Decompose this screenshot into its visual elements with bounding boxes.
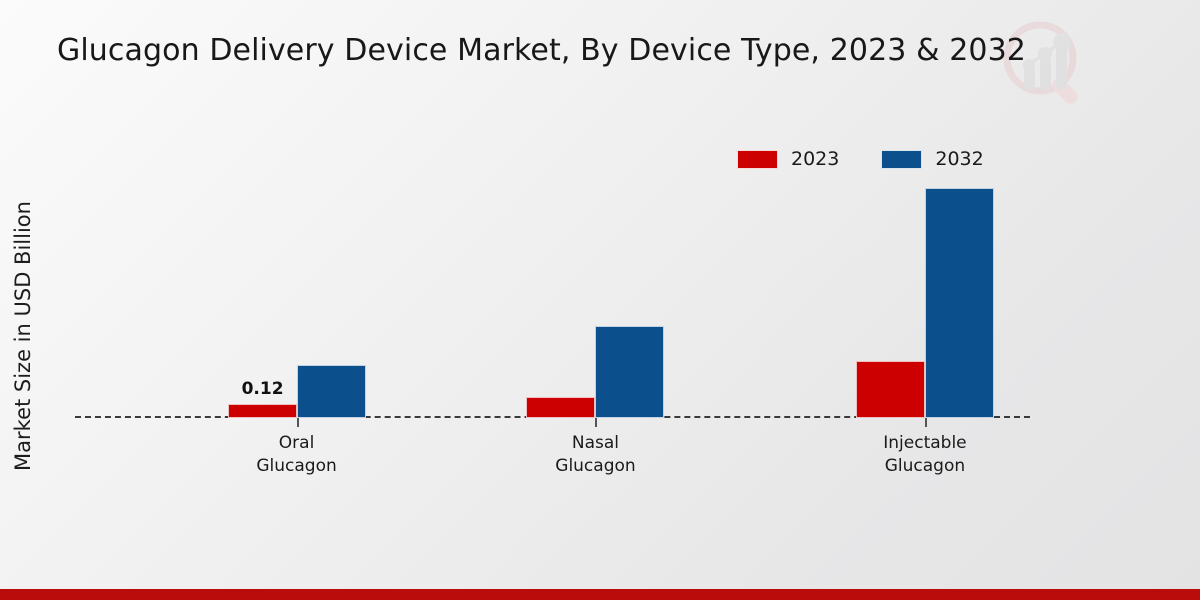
chart-page: Glucagon Delivery Device Market, By Devi… [0,0,1200,600]
x-axis-tick [297,418,299,427]
bar-2023-oral-glucagon[interactable]: 0.12 [228,404,297,418]
bar-value-label: 0.12 [242,379,284,399]
legend-label-2032: 2032 [935,148,983,170]
bar-2032-injectable-glucagon[interactable] [925,188,994,418]
legend-item-2032[interactable]: 2032 [881,148,983,170]
legend-item-2023[interactable]: 2023 [737,148,839,170]
x-axis-category-label: InjectableGlucagon [883,432,966,478]
category-label-line: Glucagon [555,455,635,478]
y-axis-title-container: Market Size in USD Billion [0,0,46,600]
bar-group: 0.12OralGlucagon [228,365,366,418]
bar-2023-injectable-glucagon[interactable] [856,361,925,418]
chart-legend: 2023 2032 [737,148,984,170]
bar-2032-nasal-glucagon[interactable] [595,326,664,418]
legend-swatch-2032 [881,150,922,169]
category-label-line: Nasal [555,432,635,455]
footer-strip [0,589,1200,600]
category-label-line: Glucagon [883,455,966,478]
category-label-line: Injectable [883,432,966,455]
bar-group: InjectableGlucagon [856,188,994,418]
x-axis-tick [595,418,597,427]
category-label-line: Glucagon [256,455,336,478]
bar-2023-nasal-glucagon[interactable] [526,397,595,418]
x-axis-category-label: OralGlucagon [256,432,336,478]
bar-group: NasalGlucagon [526,326,664,418]
x-axis-tick [925,418,927,427]
plot-area: 0.12OralGlucagonNasalGlucagonInjectableG… [75,170,1030,418]
category-label-line: Oral [256,432,336,455]
legend-label-2023: 2023 [791,148,839,170]
chart-title: Glucagon Delivery Device Market, By Devi… [57,33,1026,68]
bar-2032-oral-glucagon[interactable] [297,365,366,418]
legend-swatch-2023 [737,150,778,169]
y-axis-title: Market Size in USD Billion [11,162,35,510]
x-axis-category-label: NasalGlucagon [555,432,635,478]
